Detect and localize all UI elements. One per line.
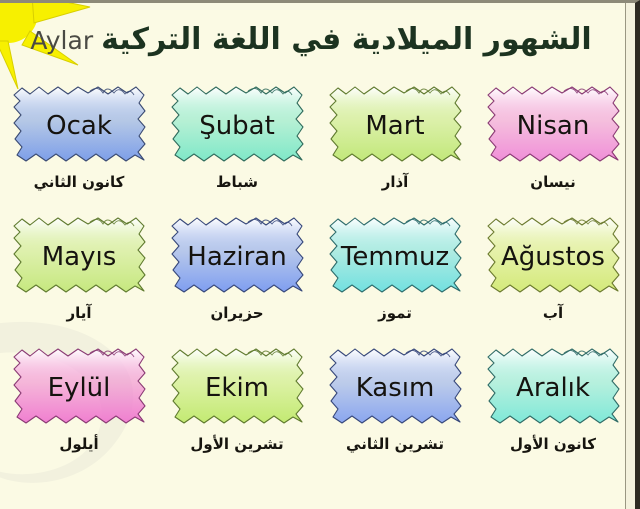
month-name-turkish: Şubat bbox=[199, 113, 275, 139]
month-name-arabic: نيسان bbox=[530, 174, 575, 191]
month-name-arabic: آذار bbox=[382, 174, 409, 191]
month-cell: Aralıkكانون الأول bbox=[474, 343, 632, 483]
month-card-temmuz[interactable]: Temmuz bbox=[324, 212, 466, 298]
month-name-turkish: Ekim bbox=[205, 375, 269, 401]
month-cell: Mayısآيار bbox=[0, 212, 158, 343]
month-name-turkish: Mayıs bbox=[42, 244, 117, 270]
month-cell: Ekimتشرين الأول bbox=[158, 343, 316, 483]
title-arabic: الشهور الميلادية في اللغة التركية bbox=[101, 25, 592, 55]
month-name-arabic: شباط bbox=[216, 174, 258, 191]
month-name-arabic: أيلول bbox=[59, 436, 98, 453]
month-name-turkish: Eylül bbox=[48, 375, 111, 401]
month-name-turkish: Nisan bbox=[517, 113, 590, 139]
month-card-ağustos[interactable]: Ağustos bbox=[482, 212, 624, 298]
month-card-şubat[interactable]: Şubat bbox=[166, 81, 308, 167]
month-card-aralık[interactable]: Aralık bbox=[482, 343, 624, 429]
month-card-kasım[interactable]: Kasım bbox=[324, 343, 466, 429]
month-cell: Ocakكانون الثاني bbox=[0, 81, 158, 212]
month-name-turkish: Ağustos bbox=[501, 244, 605, 270]
month-name-arabic: تشرين الثاني bbox=[346, 436, 444, 453]
month-card-ekim[interactable]: Ekim bbox=[166, 343, 308, 429]
month-cell: Martآذار bbox=[316, 81, 474, 212]
month-card-ocak[interactable]: Ocak bbox=[8, 81, 150, 167]
month-name-arabic: كانون الأول bbox=[510, 436, 596, 453]
month-cell: Ağustosآب bbox=[474, 212, 632, 343]
month-card-mart[interactable]: Mart bbox=[324, 81, 466, 167]
month-card-haziran[interactable]: Haziran bbox=[166, 212, 308, 298]
months-grid: Ocakكانون الثانيŞubatشباطMartآذارNisanني… bbox=[0, 81, 632, 483]
title-latin: Aylar bbox=[30, 28, 93, 53]
month-card-nisan[interactable]: Nisan bbox=[482, 81, 624, 167]
month-name-arabic: تشرين الأول bbox=[190, 436, 283, 453]
month-name-arabic: تموز bbox=[378, 305, 412, 322]
month-name-turkish: Mart bbox=[365, 113, 424, 139]
month-name-turkish: Kasım bbox=[356, 375, 435, 401]
month-name-arabic: آيار bbox=[66, 305, 91, 322]
month-name-arabic: حزيران bbox=[210, 305, 263, 322]
month-cell: Nisanنيسان bbox=[474, 81, 632, 212]
month-name-arabic: آب bbox=[543, 305, 563, 322]
month-name-turkish: Haziran bbox=[187, 244, 286, 270]
month-name-turkish: Ocak bbox=[46, 113, 112, 139]
month-name-turkish: Aralık bbox=[516, 375, 590, 401]
page-title: الشهور الميلادية في اللغة التركية Aylar bbox=[0, 11, 640, 69]
month-name-arabic: كانون الثاني bbox=[34, 174, 125, 191]
month-cell: Haziranحزيران bbox=[158, 212, 316, 343]
month-name-turkish: Temmuz bbox=[341, 244, 449, 270]
poster-page: الشهور الميلادية في اللغة التركية Aylar … bbox=[0, 0, 640, 509]
month-cell: Şubatشباط bbox=[158, 81, 316, 212]
month-cell: Kasımتشرين الثاني bbox=[316, 343, 474, 483]
month-cell: Eylülأيلول bbox=[0, 343, 158, 483]
month-cell: Temmuzتموز bbox=[316, 212, 474, 343]
month-card-eylül[interactable]: Eylül bbox=[8, 343, 150, 429]
month-card-mayıs[interactable]: Mayıs bbox=[8, 212, 150, 298]
